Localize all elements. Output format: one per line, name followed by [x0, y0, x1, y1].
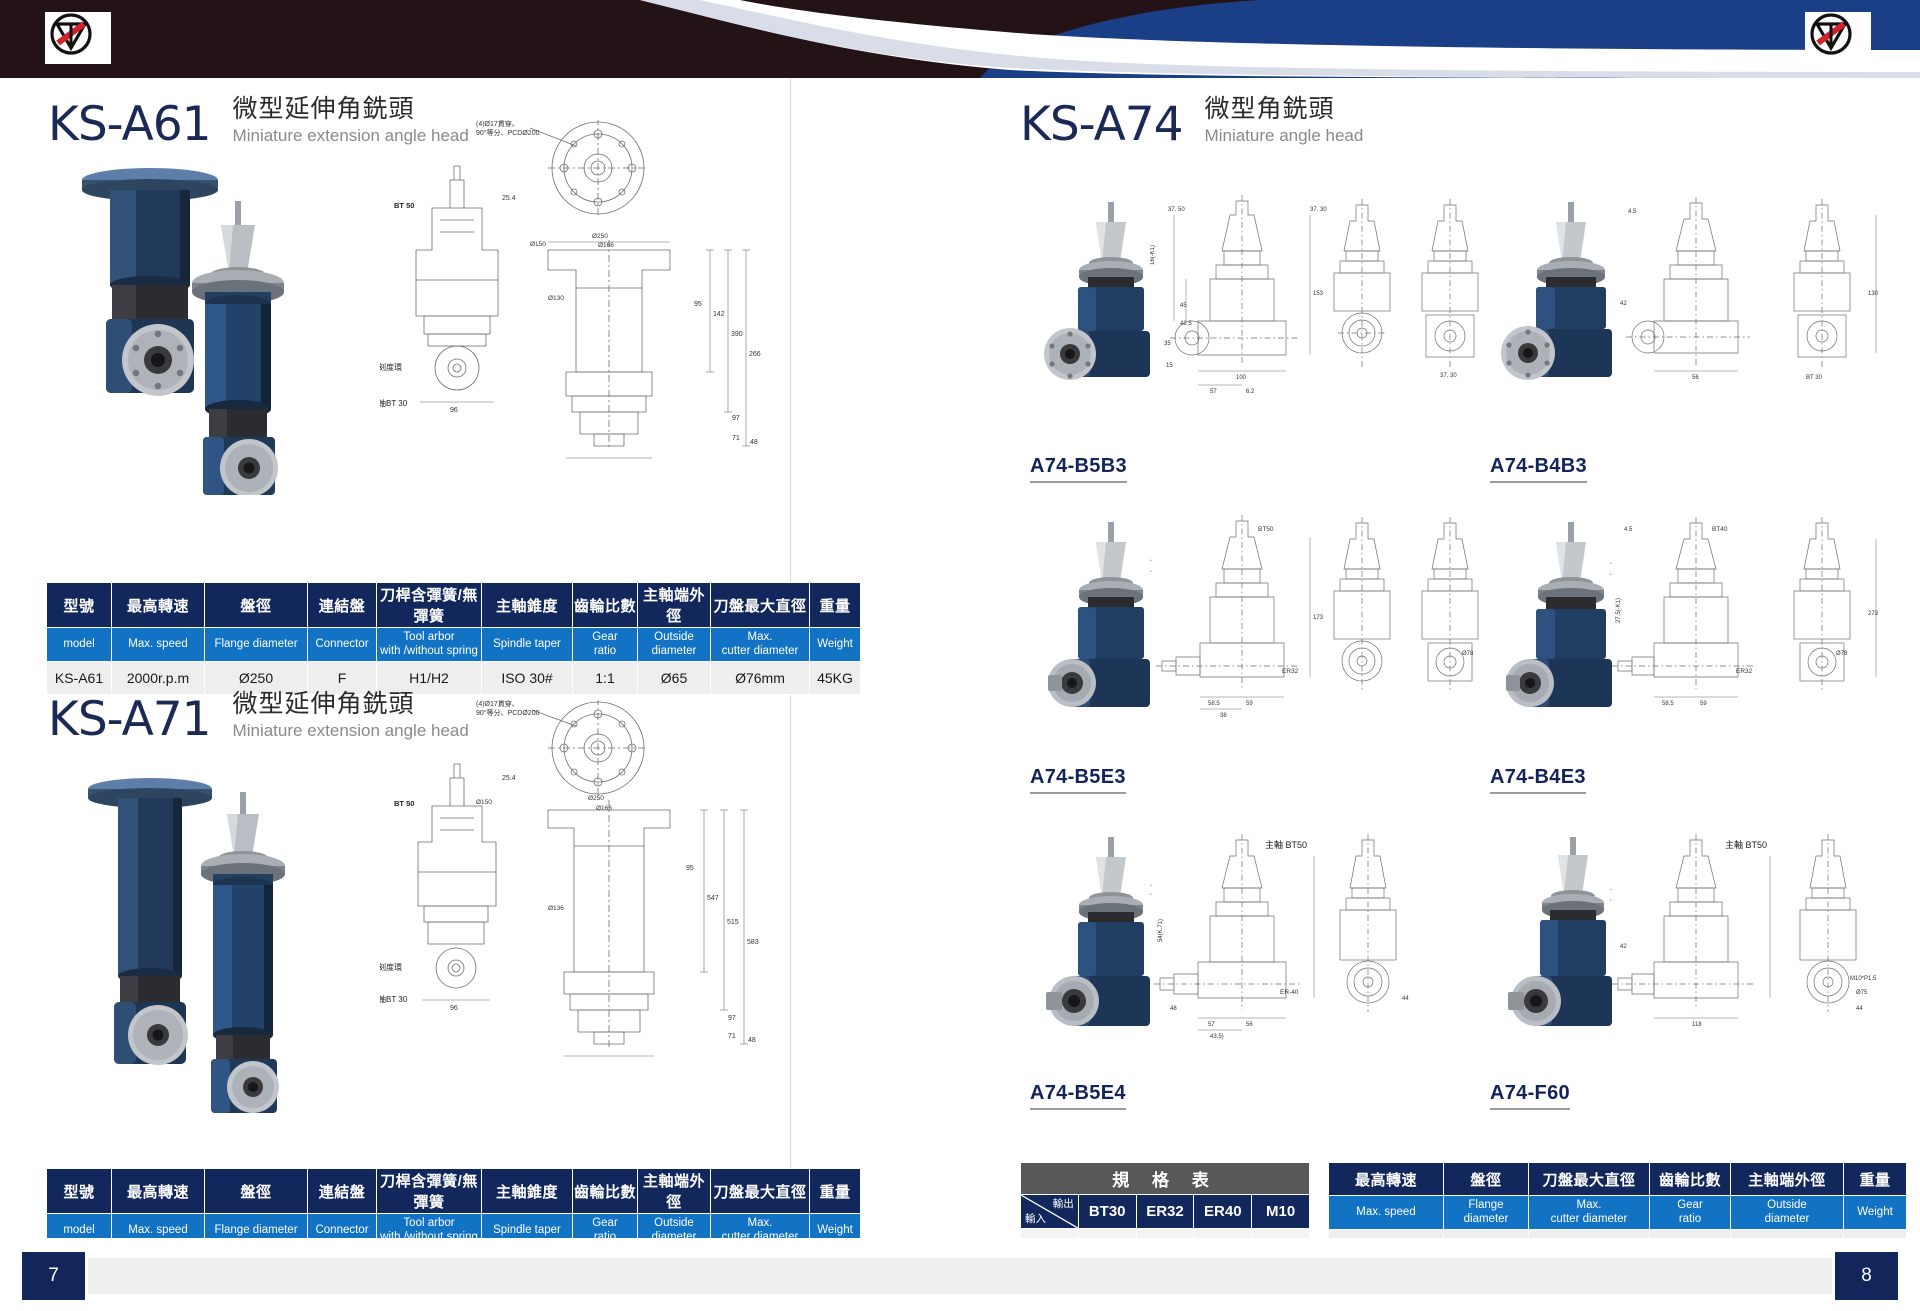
svg-text:118: 118 — [1692, 1022, 1702, 1028]
td-outside-dia: Ø65 — [638, 662, 711, 695]
th-en-tool-arbor: Tool arbor with /without spring — [377, 628, 482, 662]
svg-text:38: 38 — [1220, 713, 1227, 719]
svg-text:95: 95 — [686, 865, 694, 872]
th-en-max-cutter: Max. cutter diameter — [1529, 1196, 1650, 1230]
th-en-weight: Weight — [1844, 1196, 1907, 1230]
th-en-outside-dia: Outside diameter — [1731, 1196, 1844, 1230]
matrix-corner-cell: 輸出 輸入 — [1021, 1195, 1079, 1229]
th-cn-max-cutter: 刀盤最大直徑 — [1529, 1163, 1650, 1196]
brand-logo-icon — [1805, 12, 1857, 56]
variant-label-a74-b4e3: A74-B4E3 — [1490, 766, 1586, 794]
svg-text:130: 130 — [1868, 291, 1879, 297]
svg-text:37. 30: 37. 30 — [1440, 373, 1457, 379]
matrix-title: 規 格 表 — [1021, 1163, 1310, 1195]
product-code: KS-A74 — [1020, 101, 1183, 148]
product-title-en: Miniature angle head — [1205, 126, 1364, 146]
td-weight: 45KG — [810, 662, 861, 695]
svg-text:90°等分、PCDØ200: 90°等分、PCDØ200 — [476, 128, 540, 137]
svg-text:16(-K1): 16(-K1) — [1150, 559, 1152, 579]
svg-text:ER-40: ER-40 — [1280, 989, 1299, 996]
th-cn-tool-arbor: 刀桿含彈簧/無彈簧 — [377, 1169, 482, 1214]
th-cn-max-cutter: 刀盤最大直徑 — [711, 1169, 810, 1214]
table-header-row-cn: 型號 最高轉速 盤徑 連結盤 刀桿含彈簧/無彈簧 主軸錐度 齒輪比數 主軸端外徑… — [47, 1169, 861, 1214]
svg-text:BT40: BT40 — [1712, 526, 1728, 533]
th-cn-flange-dia: 盤徑 — [205, 583, 308, 628]
svg-text:515: 515 — [727, 919, 739, 926]
engineering-drawing-a74-b5b3: 37. 50 16(-K1) 45 42.5 35 37. 30 153 100… — [1150, 195, 1480, 420]
svg-text:273: 273 — [1868, 611, 1879, 617]
product-code: KS-A61 — [48, 101, 211, 148]
svg-text:Ø150: Ø150 — [476, 799, 492, 806]
svg-text:48: 48 — [748, 1037, 756, 1044]
svg-text:25.4: 25.4 — [502, 195, 516, 202]
td-spindle-taper: ISO 30# — [482, 662, 573, 695]
th-cn-gear-ratio: 齒輪比數 — [1650, 1163, 1731, 1196]
th-cn-spindle-taper: 主軸錐度 — [482, 583, 573, 628]
svg-text:48: 48 — [1170, 1006, 1177, 1012]
th-en-gear-ratio: Gear ratio — [573, 628, 638, 662]
svg-text:主軸BT 30: 主軸BT 30 — [380, 994, 408, 1004]
th-cn-flange-dia: 盤徑 — [205, 1169, 308, 1214]
svg-text:59: 59 — [1700, 701, 1707, 707]
th-cn-max-speed: 最高轉速 — [112, 583, 205, 628]
variant-label-a74-b5e4: A74-B5E4 — [1030, 1082, 1126, 1110]
brand-logo-left — [45, 12, 111, 64]
svg-text:(4)Ø17貫穿、: (4)Ø17貫穿、 — [476, 700, 519, 708]
svg-text:(4)Ø17貫穿、: (4)Ø17貫穿、 — [476, 120, 519, 128]
svg-text:6.2: 6.2 — [1246, 389, 1255, 395]
matrix-col-bt30: BT30 — [1078, 1195, 1136, 1229]
svg-text:16(-K1): 16(-K1) — [1150, 245, 1156, 265]
variant-label-a74-b4b3: A74-B4B3 — [1490, 455, 1587, 483]
svg-text:37. 50: 37. 50 — [1168, 207, 1185, 213]
svg-text:ER32: ER32 — [1282, 668, 1299, 675]
svg-text:97: 97 — [728, 1015, 736, 1022]
th-en-weight: Weight — [810, 628, 861, 662]
svg-text:25.4: 25.4 — [502, 775, 516, 782]
svg-text:37. 30: 37. 30 — [1310, 207, 1327, 213]
product-code: KS-A71 — [48, 696, 211, 743]
td-gear-ratio: 1:1 — [573, 662, 638, 695]
svg-text:173: 173 — [1313, 615, 1324, 621]
svg-text:56: 56 — [1246, 1022, 1253, 1028]
th-en-max-speed: Max. speed — [112, 628, 205, 662]
table-header-row-cn: 最高轉速 盤徑 刀盤最大直徑 齒輪比數 主軸端外徑 重量 — [1329, 1163, 1907, 1196]
variant-label-a74-f60: A74-F60 — [1490, 1082, 1570, 1110]
svg-text:刻度環: 刻度環 — [380, 962, 402, 972]
svg-text:42: 42 — [1620, 944, 1627, 950]
th-cn-model: 型號 — [47, 1169, 112, 1214]
svg-text:59: 59 — [1246, 701, 1253, 707]
svg-text:42: 42 — [1620, 301, 1627, 307]
svg-text:71: 71 — [732, 435, 740, 442]
svg-text:390: 390 — [731, 331, 743, 338]
svg-text:Ø78: Ø78 — [1836, 651, 1848, 657]
svg-text:BT50: BT50 — [1258, 526, 1274, 533]
th-cn-tool-arbor: 刀桿含彈簧/無彈簧 — [377, 583, 482, 628]
svg-text:58.5: 58.5 — [1208, 701, 1220, 707]
th-cn-outside-dia: 主軸端外徑 — [638, 583, 711, 628]
engineering-drawing-a74-b4b3: 4.5 42 130 56 BT 30 — [1610, 195, 1910, 420]
th-cn-connector: 連結盤 — [308, 1169, 377, 1214]
svg-text:90°等分、PCDØ200: 90°等分、PCDØ200 — [476, 708, 540, 717]
th-cn-gear-ratio: 齒輪比數 — [573, 1169, 638, 1214]
svg-text:266: 266 — [749, 351, 761, 358]
brand-logo-right — [1805, 12, 1871, 64]
th-cn-max-speed: 最高轉速 — [112, 1169, 205, 1214]
th-en-spindle-taper: Spindle taper — [482, 628, 573, 662]
svg-text:96: 96 — [450, 407, 458, 414]
svg-text:95: 95 — [694, 301, 702, 308]
th-cn-connector: 連結盤 — [308, 583, 377, 628]
th-cn-outside-dia: 主軸端外徑 — [638, 1169, 711, 1214]
th-cn-weight: 重量 — [810, 1169, 861, 1214]
svg-text:Ø136: Ø136 — [548, 905, 564, 912]
banner-swoosh — [0, 0, 1920, 78]
svg-text:57: 57 — [1210, 389, 1217, 395]
matrix-corner-output-label: 輸出 — [1053, 1196, 1074, 1211]
svg-text:71: 71 — [728, 1033, 736, 1040]
svg-text:Ø166: Ø166 — [596, 805, 612, 812]
svg-text:15: 15 — [1166, 363, 1173, 369]
svg-text:BT 50: BT 50 — [394, 201, 414, 210]
product-title-cn: 微型角銑頭 — [1205, 95, 1364, 124]
svg-text:142: 142 — [713, 311, 725, 318]
svg-text:56: 56 — [1692, 375, 1699, 381]
matrix-title-row: 規 格 表 — [1021, 1163, 1310, 1195]
taper-note-f60: 主軸 BT50 — [1725, 838, 1767, 851]
footer-bar — [88, 1258, 1832, 1294]
engineering-drawing-a74-b5e4: 45(K3) 54(K.71) ER-40 48 57 56 43.5) 44 — [1150, 830, 1480, 1060]
svg-text:Ø75: Ø75 — [1856, 990, 1868, 996]
th-cn-gear-ratio: 齒輪比數 — [573, 583, 638, 628]
svg-text:45(K3): 45(K3) — [1150, 884, 1152, 902]
matrix-header-row: 輸出 輸入 BT30 ER32 ER40 M10 — [1021, 1195, 1310, 1229]
svg-text:BT 50: BT 50 — [394, 799, 414, 808]
svg-text:57: 57 — [1208, 1022, 1215, 1028]
svg-text:27.5(-K1): 27.5(-K1) — [1616, 598, 1622, 623]
product-photo-ks-a71-angle — [185, 790, 395, 1120]
th-cn-max-cutter: 刀盤最大直徑 — [711, 583, 810, 628]
table-header-row-cn: 型號 最高轉速 盤徑 連結盤 刀桿含彈簧/無彈簧 主軸錐度 齒輪比數 主軸端外徑… — [47, 583, 861, 628]
svg-text:M10*P1.5: M10*P1.5 — [1850, 976, 1877, 982]
engineering-drawing-a74-b5e3: 16(-K1) 173 BT50 ER32 58.5 59 38 Ø78 — [1150, 515, 1480, 745]
svg-text:4.5: 4.5 — [1628, 209, 1637, 215]
td-max-cutter: Ø76mm — [711, 662, 810, 695]
svg-text:BT 30: BT 30 — [1806, 375, 1823, 381]
variant-label-a74-b5e3: A74-B5E3 — [1030, 766, 1126, 794]
svg-text:35.5(-K1): 35.5(-K1) — [1610, 562, 1612, 587]
th-cn-model: 型號 — [47, 583, 112, 628]
product-photo-ks-a61-angle — [175, 195, 390, 495]
th-cn-flange-dia: 盤徑 — [1444, 1163, 1529, 1196]
th-cn-outside-dia: 主軸端外徑 — [1731, 1163, 1844, 1196]
svg-text:100: 100 — [1236, 375, 1247, 381]
svg-text:ER32: ER32 — [1736, 668, 1753, 675]
brand-logo-icon — [45, 12, 97, 56]
th-en-gear-ratio: Gear ratio — [1650, 1196, 1731, 1230]
th-cn-weight: 重量 — [810, 583, 861, 628]
svg-text:35: 35 — [1164, 341, 1171, 347]
top-banner — [0, 0, 1920, 78]
engineering-drawing-a74-b4e3: 4.5 35.5(-K1) 27.5(-K1) BT40 ER32 58.5 5… — [1610, 515, 1910, 745]
page-number-left: 7 — [22, 1252, 85, 1300]
svg-text:46(K.7): 46(K.7) — [1610, 888, 1612, 908]
svg-text:45: 45 — [1180, 303, 1187, 309]
svg-text:Ø78: Ø78 — [1462, 651, 1474, 657]
svg-text:44: 44 — [1402, 996, 1409, 1002]
svg-text:Ø150: Ø150 — [530, 241, 546, 248]
table-header-row-en: model Max. speed Flange diameter Connect… — [47, 628, 861, 662]
variant-label-a74-b5b3: A74-B5B3 — [1030, 455, 1127, 483]
th-cn-weight: 重量 — [1844, 1163, 1907, 1196]
svg-text:153: 153 — [1313, 291, 1324, 297]
matrix-col-er32: ER32 — [1136, 1195, 1194, 1229]
table-header-row-en: Max. speed Flange diameter Max. cutter d… — [1329, 1196, 1907, 1230]
th-en-max-cutter: Max. cutter diameter — [711, 628, 810, 662]
th-en-connector: Connector — [308, 628, 377, 662]
taper-note-b5e4: 主軸 BT50 — [1265, 838, 1307, 851]
svg-text:刻度環: 刻度環 — [380, 362, 402, 372]
svg-text:Ø250: Ø250 — [588, 795, 604, 802]
th-en-model: model — [47, 628, 112, 662]
svg-text:42.5: 42.5 — [1180, 321, 1192, 327]
svg-text:58.5: 58.5 — [1662, 701, 1674, 707]
svg-text:4.5: 4.5 — [1624, 527, 1633, 533]
svg-text:Ø250: Ø250 — [592, 233, 608, 240]
engineering-drawing-ks-a71: (4)Ø17貫穿、 90°等分、PCDØ200 25.4 BT 50 Ø150 … — [380, 700, 780, 1060]
th-en-flange-dia: Flange diameter — [205, 628, 308, 662]
svg-text:54(K.71): 54(K.71) — [1158, 919, 1164, 942]
matrix-corner-input-label: 輸入 — [1025, 1211, 1046, 1226]
spec-table-ks-a61: 型號 最高轉速 盤徑 連結盤 刀桿含彈簧/無彈簧 主軸錐度 齒輪比數 主軸端外徑… — [46, 582, 861, 695]
th-en-flange-dia: Flange diameter — [1444, 1196, 1529, 1230]
engineering-drawing-a74-f60: 46(K.7) 42 M10*P1.5 Ø75 118 44 — [1610, 830, 1910, 1060]
svg-text:主軸BT 30: 主軸BT 30 — [380, 398, 408, 408]
svg-text:96: 96 — [450, 1005, 458, 1012]
svg-text:583: 583 — [747, 939, 759, 946]
th-cn-max-speed: 最高轉速 — [1329, 1163, 1444, 1196]
product-heading-ks-a74: KS-A74 微型角銑頭 Miniature angle head — [1020, 95, 1363, 148]
svg-text:97: 97 — [732, 415, 740, 422]
svg-text:44: 44 — [1856, 1006, 1863, 1012]
matrix-col-er40: ER40 — [1194, 1195, 1252, 1229]
svg-text:43.5): 43.5) — [1210, 1034, 1224, 1040]
matrix-col-m10: M10 — [1252, 1195, 1310, 1229]
th-cn-spindle-taper: 主軸錐度 — [482, 1169, 573, 1214]
svg-text:Ø130: Ø130 — [548, 295, 564, 302]
th-en-max-speed: Max. speed — [1329, 1196, 1444, 1230]
th-en-outside-dia: Outside diameter — [638, 628, 711, 662]
svg-text:Ø166: Ø166 — [598, 242, 614, 249]
engineering-drawing-ks-a61: (4)Ø17貫穿、 90°等分、PCDØ200 25.4 BT 50 Ø150 … — [380, 120, 780, 460]
svg-text:48: 48 — [750, 439, 758, 446]
svg-text:547: 547 — [707, 895, 719, 902]
page-number-right: 8 — [1835, 1252, 1898, 1300]
